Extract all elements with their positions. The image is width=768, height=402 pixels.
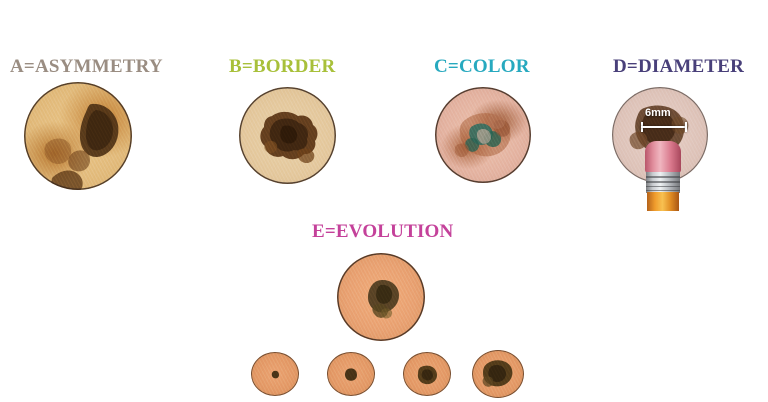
panel-label-asymmetry: A=ASYMMETRY [10, 57, 163, 76]
skin-texture-overlay [337, 253, 425, 341]
skin-texture-overlay [327, 352, 375, 396]
skin-texture-overlay [435, 87, 531, 183]
pencil-eraser-tip [645, 141, 681, 173]
panel-label-evolution: E=EVOLUTION [312, 222, 453, 241]
pencil-ferrule [646, 172, 681, 193]
panel-label-border: B=BORDER [229, 57, 335, 76]
abcde-melanoma-diagram: A=ASYMMETRY B=BORDER C=COLOR [0, 0, 768, 402]
multicolor-mole-photo [435, 87, 531, 183]
diameter-measure-label: 6mm [645, 107, 671, 119]
evolution-stage-4 [472, 350, 524, 398]
measure-cap-right [685, 122, 687, 132]
measure-line [641, 126, 687, 128]
evolution-stage-3 [403, 352, 451, 396]
panel-label-diameter: D=DIAMETER [613, 57, 744, 76]
skin-texture-overlay [472, 350, 524, 398]
irregular-border-mole-photo [239, 87, 336, 184]
skin-texture-overlay [403, 352, 451, 396]
panel-label-color: C=COLOR [434, 57, 530, 76]
evolution-stage-2 [327, 352, 375, 396]
skin-texture-overlay [24, 82, 132, 190]
diameter-measure-bar [641, 122, 687, 132]
skin-texture-overlay [251, 352, 299, 396]
evolving-mole-photo [337, 253, 425, 341]
skin-texture-overlay [239, 87, 336, 184]
pencil-eraser-reference [645, 141, 681, 211]
asymmetric-mole-photo [24, 82, 132, 190]
pencil-barrel [647, 192, 679, 211]
evolution-stage-1 [251, 352, 299, 396]
